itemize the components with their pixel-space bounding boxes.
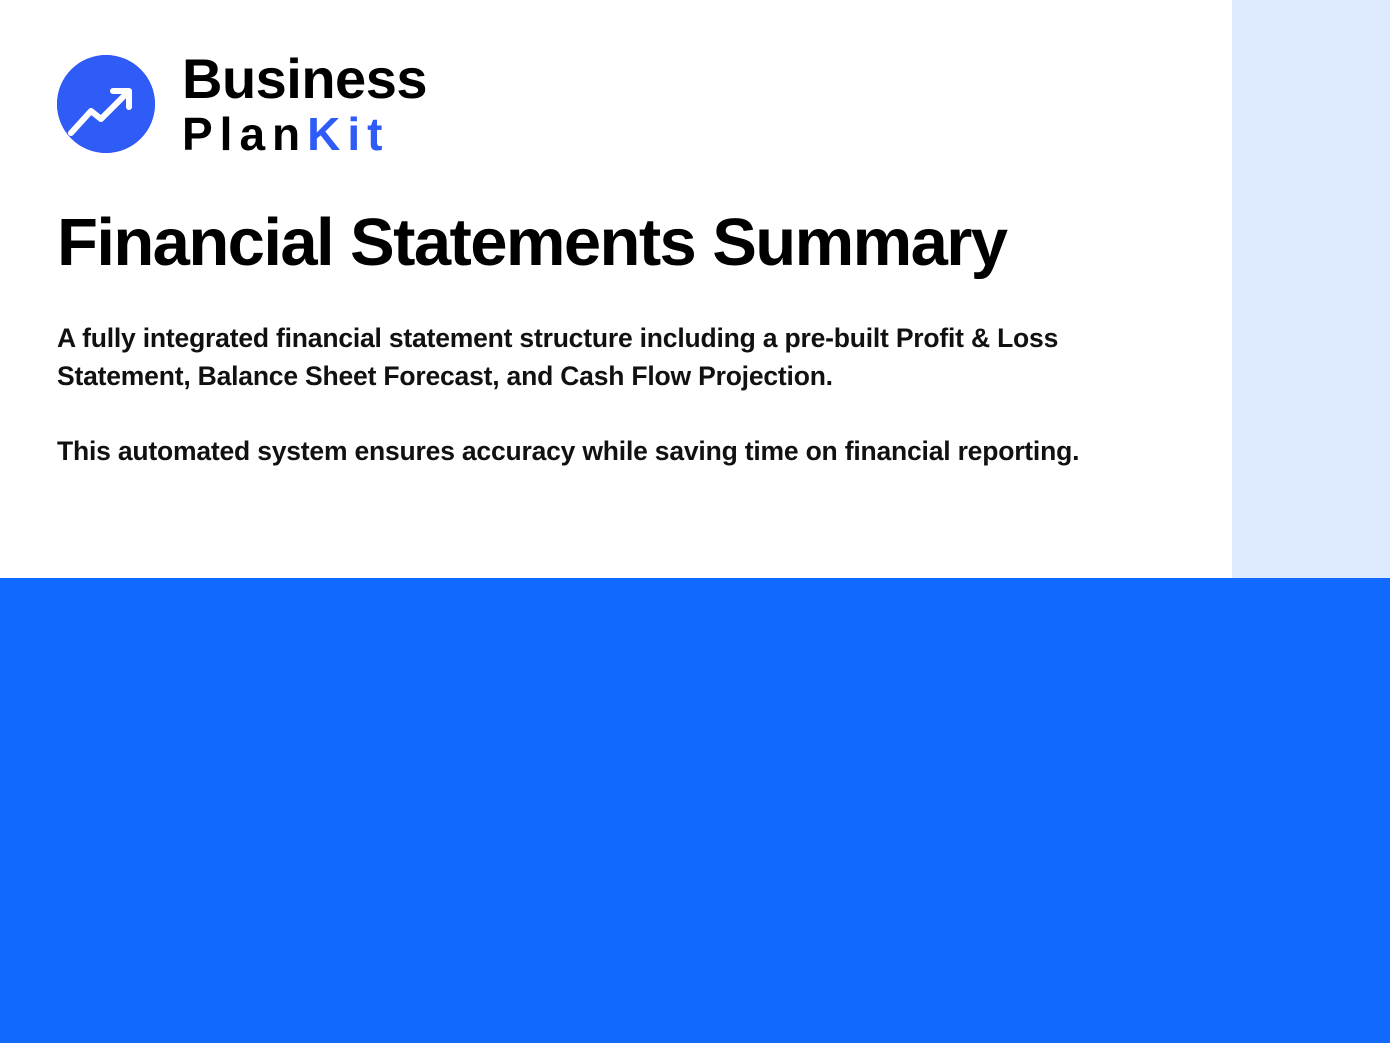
hero-section: Business PlanKit Financial Statements Su…: [0, 0, 1390, 578]
brand-word-plan: Plan: [182, 108, 307, 160]
hero-description-secondary: This automated system ensures accuracy w…: [57, 433, 1132, 471]
brand-word-kit: Kit: [307, 108, 389, 160]
screenshot-showcase-band: Cash Flow Statement ($'000) - 2025 MayJu…: [0, 578, 1390, 1043]
hero-sidebar-accent: [1232, 0, 1390, 578]
brand-name-plan-kit: PlanKit: [182, 111, 427, 157]
brand-name-business: Business: [182, 51, 427, 107]
brand-wordmark: Business PlanKit: [182, 51, 427, 157]
hero-description-primary: A fully integrated financial statement s…: [57, 320, 1132, 395]
brand-logo: Business PlanKit: [57, 51, 427, 157]
page-title: Financial Statements Summary: [57, 204, 1006, 281]
growth-arrow-logo-icon: [57, 55, 155, 153]
